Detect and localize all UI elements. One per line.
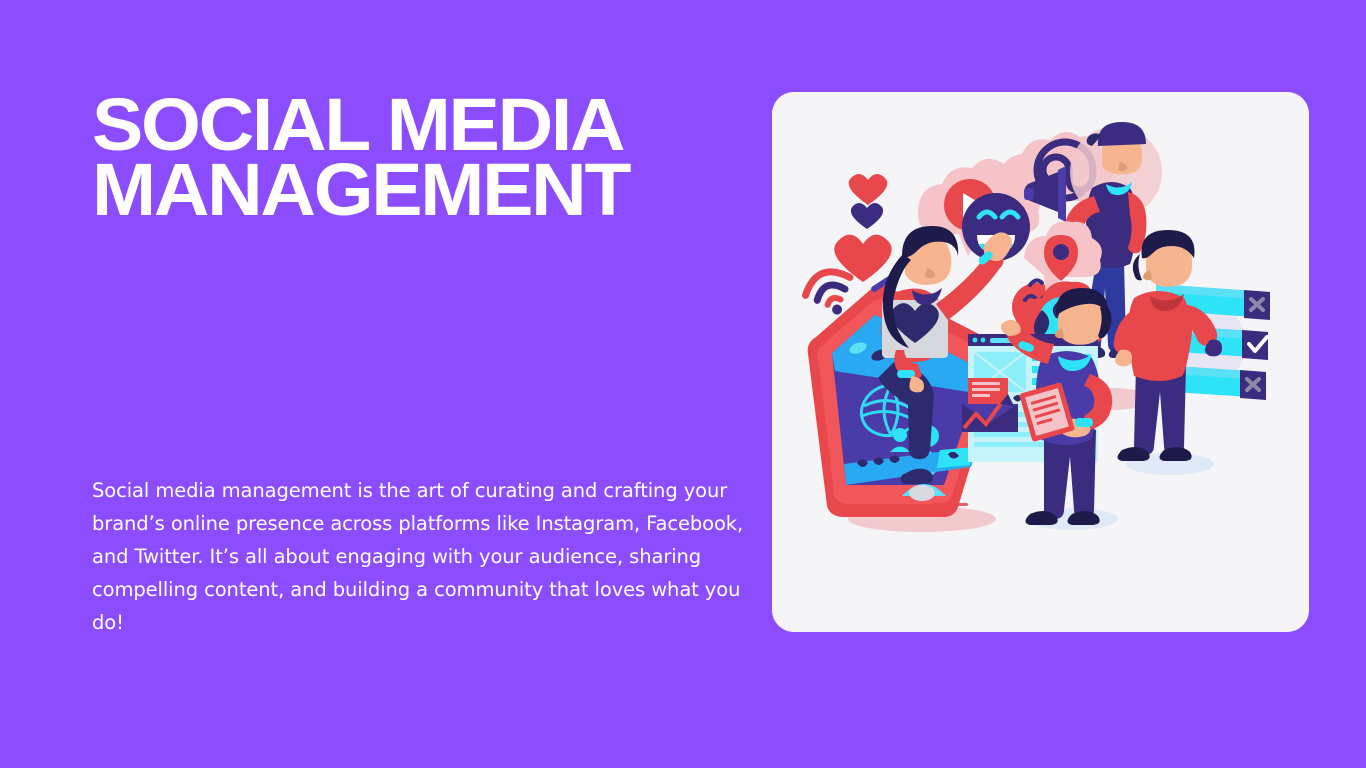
text-column: SOCIAL MEDIA MANAGEMENT Social media man…	[92, 92, 762, 652]
body-paragraph: Social media management is the art of cu…	[92, 474, 764, 639]
social-media-illustration	[772, 92, 1309, 632]
illustration-card	[772, 92, 1309, 632]
page-title: SOCIAL MEDIA MANAGEMENT	[92, 92, 789, 222]
slide-root: SOCIAL MEDIA MANAGEMENT Social media man…	[0, 0, 1366, 768]
